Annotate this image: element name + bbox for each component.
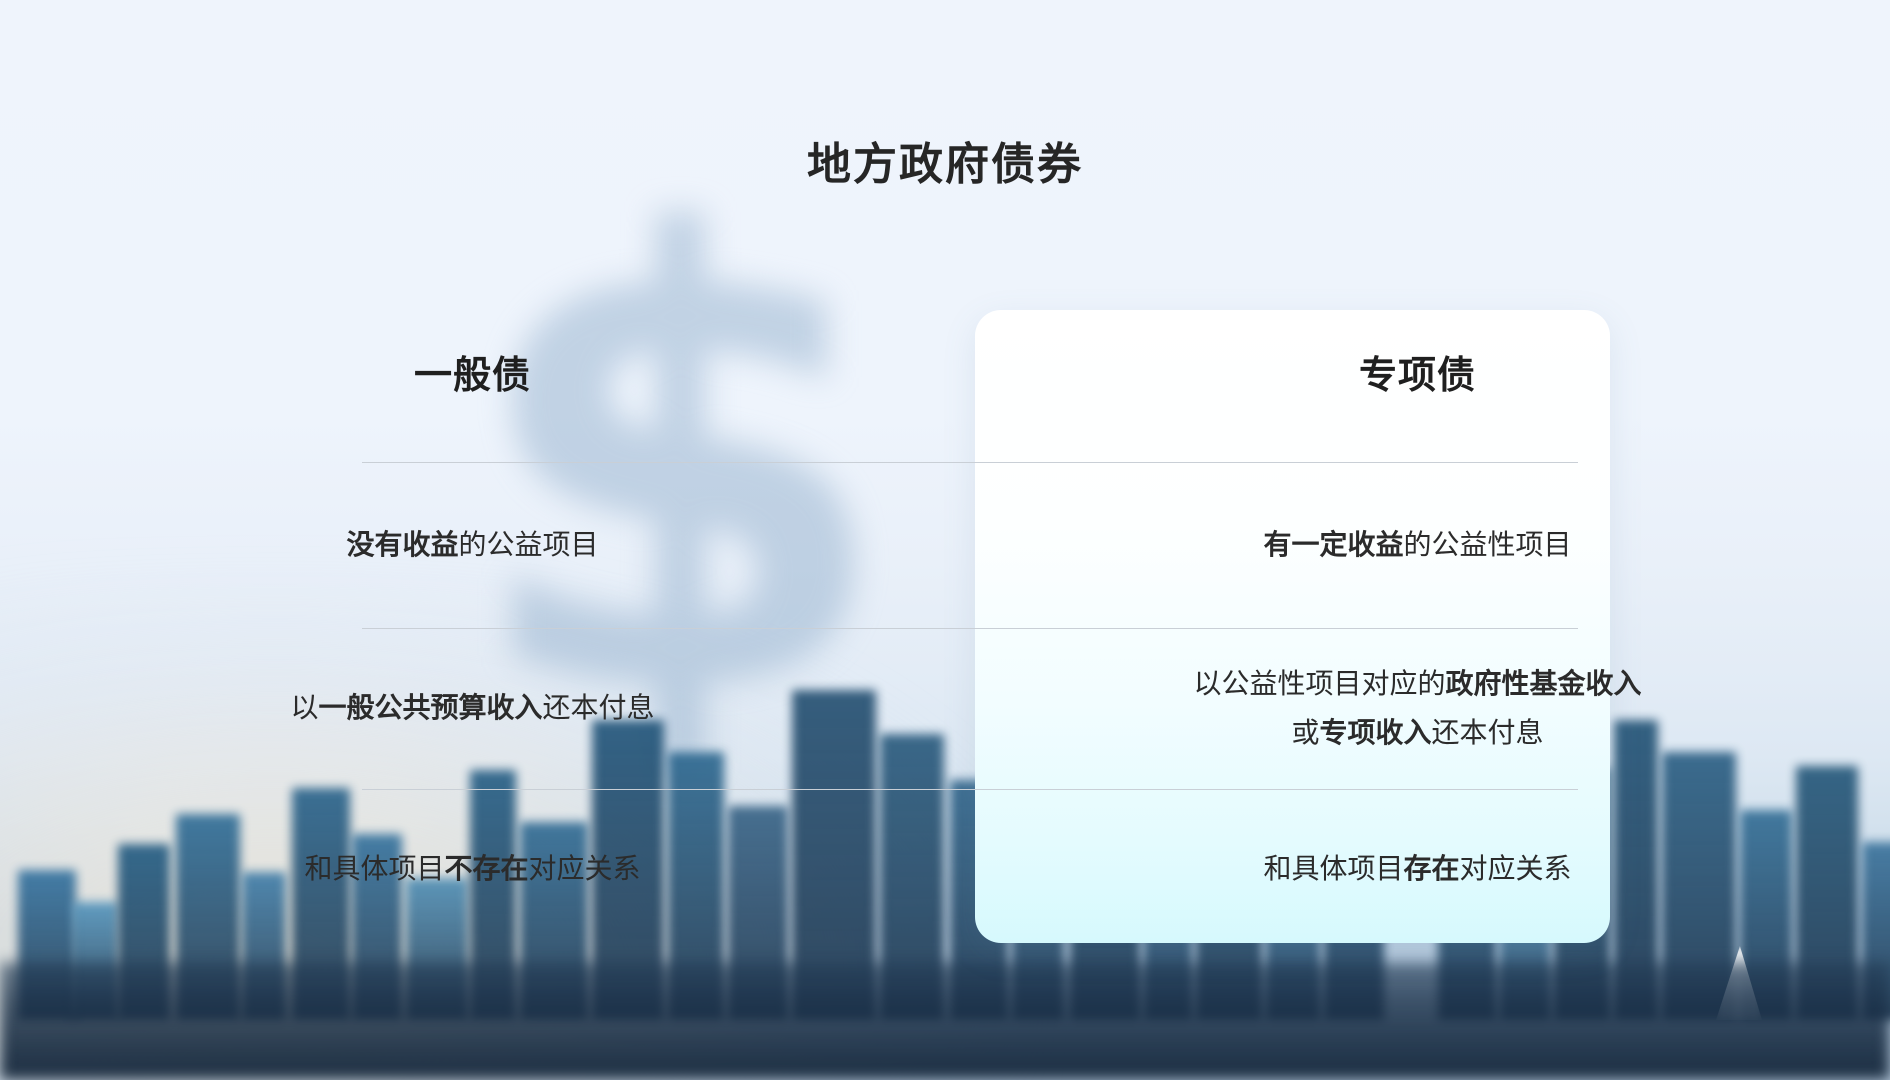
- cell-special-project-correspondence: 和具体项目存在对应关系: [945, 789, 1890, 949]
- table-row: 以一般公共预算收入还本付息 以公益性项目对应的政府性基金收入或专项收入还本付息: [0, 628, 1890, 789]
- cell-general-repayment-source: 以一般公共预算收入还本付息: [0, 628, 945, 789]
- column-header-general-bond: 一般债: [0, 310, 945, 432]
- table-row: 和具体项目不存在对应关系 和具体项目存在对应关系: [0, 789, 1890, 949]
- table-header-row: 一般债 专项债: [0, 310, 1890, 432]
- page-title: 地方政府债券: [0, 128, 1890, 192]
- cell-special-project-type: 有一定收益的公益性项目: [945, 462, 1890, 628]
- row-divider-3: [362, 789, 1578, 790]
- row-divider-2: [362, 628, 1578, 629]
- cell-general-project-type: 没有收益的公益项目: [0, 462, 945, 628]
- cell-general-project-correspondence: 和具体项目不存在对应关系: [0, 789, 945, 949]
- table-row: 没有收益的公益项目 有一定收益的公益性项目: [0, 462, 1890, 628]
- slide-root: 地方政府债券 一般债 专项债 没有收益的公益项目 有一定收益的公益性项目 以一般…: [0, 0, 1890, 1080]
- column-header-special-bond: 专项债: [945, 310, 1890, 432]
- row-divider-1: [362, 462, 1578, 463]
- cell-special-repayment-source: 以公益性项目对应的政府性基金收入或专项收入还本付息: [945, 628, 1890, 789]
